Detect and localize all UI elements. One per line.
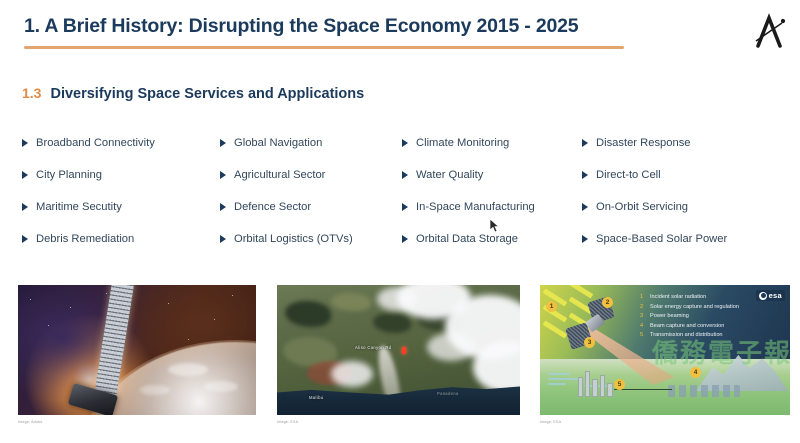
triangle-bullet-icon [402,171,408,179]
bullet-item-orbital-data-storage[interactable]: Orbital Data Storage [402,232,582,246]
triangle-bullet-icon [582,139,588,147]
figure-image-satellite [18,285,256,415]
title-underline-rule [24,46,624,49]
callout-5: 5 [614,379,625,390]
triangle-bullet-icon [402,203,408,211]
bullet-item-city-planning[interactable]: City Planning [22,168,220,182]
bullet-label: Broadband Connectivity [36,136,155,150]
legend-row-2: 2 Solar energy capture and regulation [640,303,786,313]
bullet-label: On-Orbit Servicing [596,200,688,214]
presentation-slide: 1. A Brief History: Disrupting the Space… [0,0,800,443]
bullet-label: Defence Sector [234,200,311,214]
callout-1: 1 [546,301,557,312]
services-bullet-grid: Broadband Connectivity Global Navigation… [22,136,782,264]
bullet-item-climate-monitoring[interactable]: Climate Monitoring [402,136,582,150]
legend-number: 4 [640,322,646,332]
stylized-a-logo [748,10,792,54]
bullet-item-global-navigation[interactable]: Global Navigation [220,136,402,150]
esa-logo-text: esa [769,291,782,300]
bullet-label: Global Navigation [234,136,322,150]
map-label-aliso-canyon: Aliso Canyon Rd [355,345,391,350]
triangle-bullet-icon [22,139,28,147]
triangle-bullet-icon [22,171,28,179]
triangle-bullet-icon [220,203,226,211]
bullet-label: Agricultural Sector [234,168,325,182]
legend-text: Power beaming [650,312,689,322]
legend-number: 2 [640,303,646,313]
bullet-item-space-based-solar-power[interactable]: Space-Based Solar Power [582,232,782,246]
bullet-label: Maritime Secutity [36,200,122,214]
section-label: Diversifying Space Services and Applicat… [50,86,364,102]
bullet-label: Debris Remediation [36,232,134,246]
bullet-item-water-quality[interactable]: Water Quality [402,168,582,182]
legend-text: Incident solar radiation [650,293,706,303]
triangle-bullet-icon [220,171,226,179]
triangle-bullet-icon [402,235,408,243]
bullet-item-on-orbit-servicing[interactable]: On-Orbit Servicing [582,200,782,214]
legend-row-4: 4 Beam capture and conversion [640,322,786,332]
bullet-item-agricultural-sector[interactable]: Agricultural Sector [220,168,402,182]
figure-space-based-solar-power[interactable]: 1 2 3 4 5 1 Incident solar radiation 2 S… [540,285,790,424]
callout-2: 2 [602,297,613,308]
mouse-pointer-icon [489,218,500,233]
figure-image-sbsp: 1 2 3 4 5 1 Incident solar radiation 2 S… [540,285,790,415]
bullet-item-direct-to-cell[interactable]: Direct-to Cell [582,168,782,182]
bullet-item-broadband-connectivity[interactable]: Broadband Connectivity [22,136,220,150]
legend-text: Beam capture and conversion [650,322,724,332]
legend-number: 3 [640,312,646,322]
section-number: 1.3 [22,85,41,101]
bullet-label: City Planning [36,168,102,182]
legend-text: Transmission and distribution [650,331,723,341]
legend-row-5: 5 Transmission and distribution [640,331,786,341]
esa-mark-icon [759,292,767,300]
rectenna-array [668,385,740,397]
triangle-bullet-icon [582,235,588,243]
legend-text: Solar energy capture and regulation [650,303,739,313]
section-heading: 1.3 Diversifying Space Services and Appl… [22,85,364,102]
triangle-bullet-icon [582,203,588,211]
bullet-item-orbital-logistics[interactable]: Orbital Logistics (OTVs) [220,232,402,246]
legend-number: 1 [640,293,646,303]
figure-caption: Image: ESA [540,420,790,424]
triangle-bullet-icon [402,139,408,147]
bullet-label: Climate Monitoring [416,136,509,150]
map-label-pasadena: Pasadena [437,391,459,396]
bullet-label: Orbital Data Storage [416,232,518,246]
figure-image-wildfire: Aliso Canyon Rd Malibu Pasadena [277,285,520,415]
bullet-label: Orbital Logistics (OTVs) [234,232,353,246]
legend-number: 5 [640,331,646,341]
figure-wildfire-satellite-imagery[interactable]: Aliso Canyon Rd Malibu Pasadena Image: E… [277,285,520,424]
figure-caption: Image: Adobe [18,420,256,424]
bullet-item-disaster-response[interactable]: Disaster Response [582,136,782,150]
map-label-malibu: Malibu [309,395,323,400]
bullet-label: Direct-to Cell [596,168,661,182]
bullet-item-debris-remediation[interactable]: Debris Remediation [22,232,220,246]
page-title: 1. A Brief History: Disrupting the Space… [24,15,578,38]
bullet-label: In-Space Manufacturing [416,200,535,214]
bullet-item-defence-sector[interactable]: Defence Sector [220,200,402,214]
figure-caption: Image: ESA [277,420,520,424]
bullet-label: Space-Based Solar Power [596,232,727,246]
bullet-label: Water Quality [416,168,483,182]
callout-3: 3 [584,337,595,348]
esa-logo: esa [756,290,785,301]
triangle-bullet-icon [22,203,28,211]
bullet-item-maritime-security[interactable]: Maritime Secutity [22,200,220,214]
callout-4: 4 [690,367,701,378]
bullet-item-in-space-manufacturing[interactable]: In-Space Manufacturing [402,200,582,214]
triangle-bullet-icon [220,235,226,243]
bullet-label: Disaster Response [596,136,691,150]
transmission-line [614,389,672,390]
legend-row-3: 3 Power beaming [640,312,786,322]
triangle-bullet-icon [582,171,588,179]
triangle-bullet-icon [22,235,28,243]
triangle-bullet-icon [220,139,226,147]
figure-satellite-over-earth[interactable]: Image: Adobe [18,285,256,424]
fire-hotspot [402,347,406,354]
